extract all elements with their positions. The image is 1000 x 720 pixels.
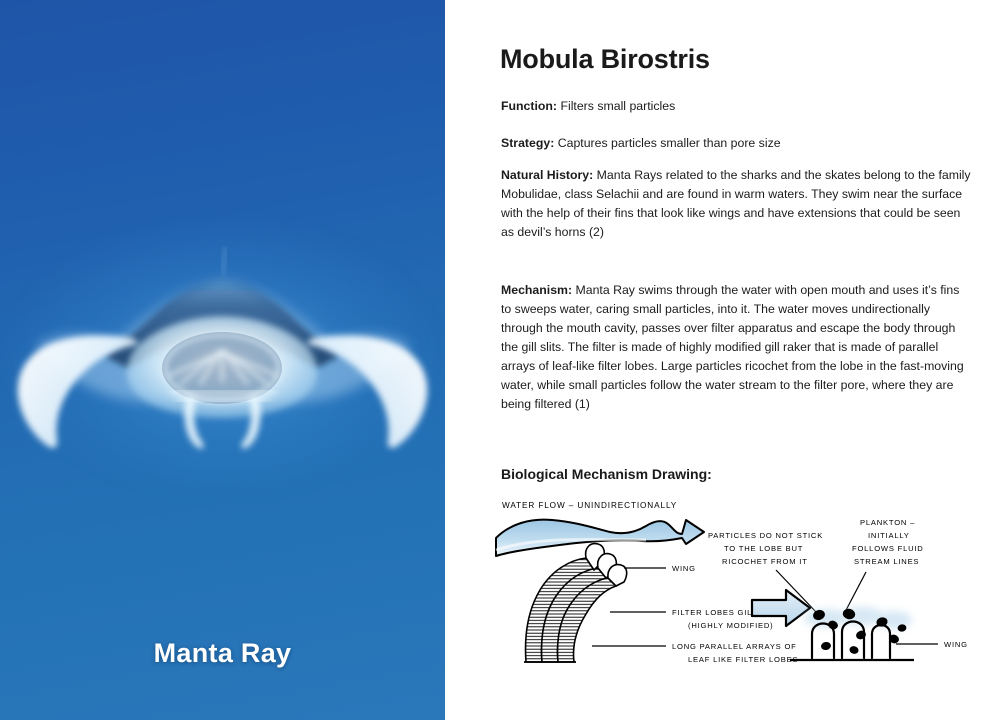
content-panel: Mobula Birostris Function: Filters small… xyxy=(445,0,1000,720)
diagram-label-long-arrays: LONG PARALLEL ARRAYS OF xyxy=(672,642,797,651)
section-function-label: Function xyxy=(501,99,553,113)
section-natural-history: Natural History: Manta Rays related to t… xyxy=(501,166,971,242)
section-natural-history-label: Natural History: xyxy=(501,168,593,182)
section-mechanism: Mechanism: Manta Ray swims through the w… xyxy=(501,281,971,414)
section-function: Function: Filters small particles xyxy=(501,97,971,116)
diagram-label-long-arrays-sub: LEAF LIKE FILTER LOBES xyxy=(688,655,798,664)
diagram-label-plankton-line4: STREAM LINES xyxy=(854,557,919,566)
diagram-filter-lobes-structure xyxy=(524,544,627,662)
diagram-label-particles-line2: TO THE LOBE BUT xyxy=(724,544,803,553)
diagram-label-filter-lobes-sub: (HIGHLY MODIFIED) xyxy=(688,621,773,630)
diagram-label-water-flow: WATER FLOW – UNINDIRECTIONALLY xyxy=(502,501,677,510)
section-function-body: Filters small particles xyxy=(557,99,675,113)
section-strategy-label: Strategy xyxy=(501,136,550,150)
diagram-label-particles-line3: RICOCHET FROM IT xyxy=(722,557,808,566)
section-strategy: Strategy: Captures particles smaller tha… xyxy=(501,134,971,153)
diagram-label-wing-right: WING xyxy=(944,640,968,649)
section-mechanism-body: Manta Ray swims through the water with o… xyxy=(501,283,964,411)
biological-mechanism-diagram: WATER FLOW – UNINDIRECTIONALLY xyxy=(490,494,1000,674)
drawing-heading: Biological Mechanism Drawing: xyxy=(501,466,712,482)
diagram-label-plankton-line3: FOLLOWS FLUID xyxy=(852,544,924,553)
ray-tail xyxy=(222,246,226,274)
diagram-label-plankton-line2: INITIALLY xyxy=(868,531,910,540)
diagram-label-wing-left: WING xyxy=(672,564,696,573)
slide-page: Manta Ray Mobula Birostris Function: Fil… xyxy=(0,0,1000,720)
photo-caption: Manta Ray xyxy=(0,638,445,669)
manta-ray-photo-panel: Manta Ray xyxy=(0,0,445,720)
section-mechanism-label: Mechanism: xyxy=(501,283,572,297)
section-strategy-body: Captures particles smaller than pore siz… xyxy=(554,136,780,150)
page-title: Mobula Birostris xyxy=(500,44,710,75)
manta-ray-illustration xyxy=(0,246,445,476)
diagram-label-plankton-line1: PLANKTON – xyxy=(860,518,915,527)
diagram-label-particles-line1: PARTICLES DO NOT STICK xyxy=(708,531,823,540)
